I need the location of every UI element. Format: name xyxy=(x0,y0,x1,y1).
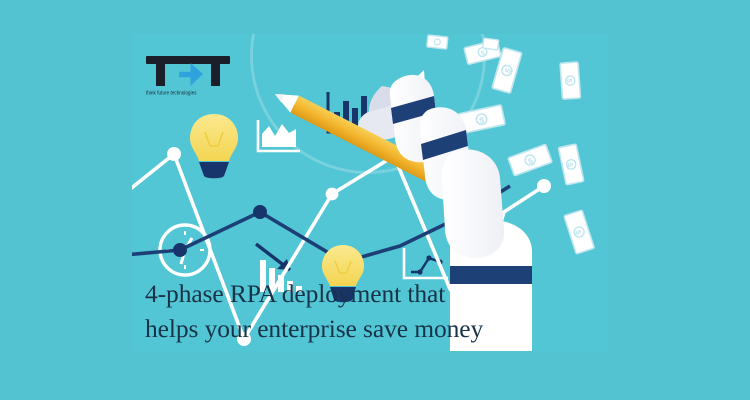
money-bill: $ xyxy=(560,62,580,99)
data-point xyxy=(253,205,267,219)
money-bill xyxy=(483,38,499,50)
money-bill: $ xyxy=(558,144,584,185)
money-bill xyxy=(427,35,448,49)
robot-finger-ring xyxy=(442,150,504,259)
lightbulb-icon xyxy=(190,114,238,178)
data-point xyxy=(173,243,187,257)
svg-text:$: $ xyxy=(565,78,574,83)
headline-line-2: helps your enterprise save money xyxy=(145,311,575,346)
data-point xyxy=(326,188,339,201)
line-chart-icon xyxy=(404,248,448,278)
money-bill: $ xyxy=(564,210,594,254)
screenshot-canvas: think future technologies xyxy=(0,0,750,400)
page-title: 4-phase RPA deployment that helps your e… xyxy=(145,276,575,346)
area-chart-icon xyxy=(258,120,300,151)
money-bill: $ xyxy=(508,144,552,176)
headline-line-1: 4-phase RPA deployment that xyxy=(145,279,445,308)
data-point xyxy=(537,179,551,193)
data-point xyxy=(167,147,181,161)
